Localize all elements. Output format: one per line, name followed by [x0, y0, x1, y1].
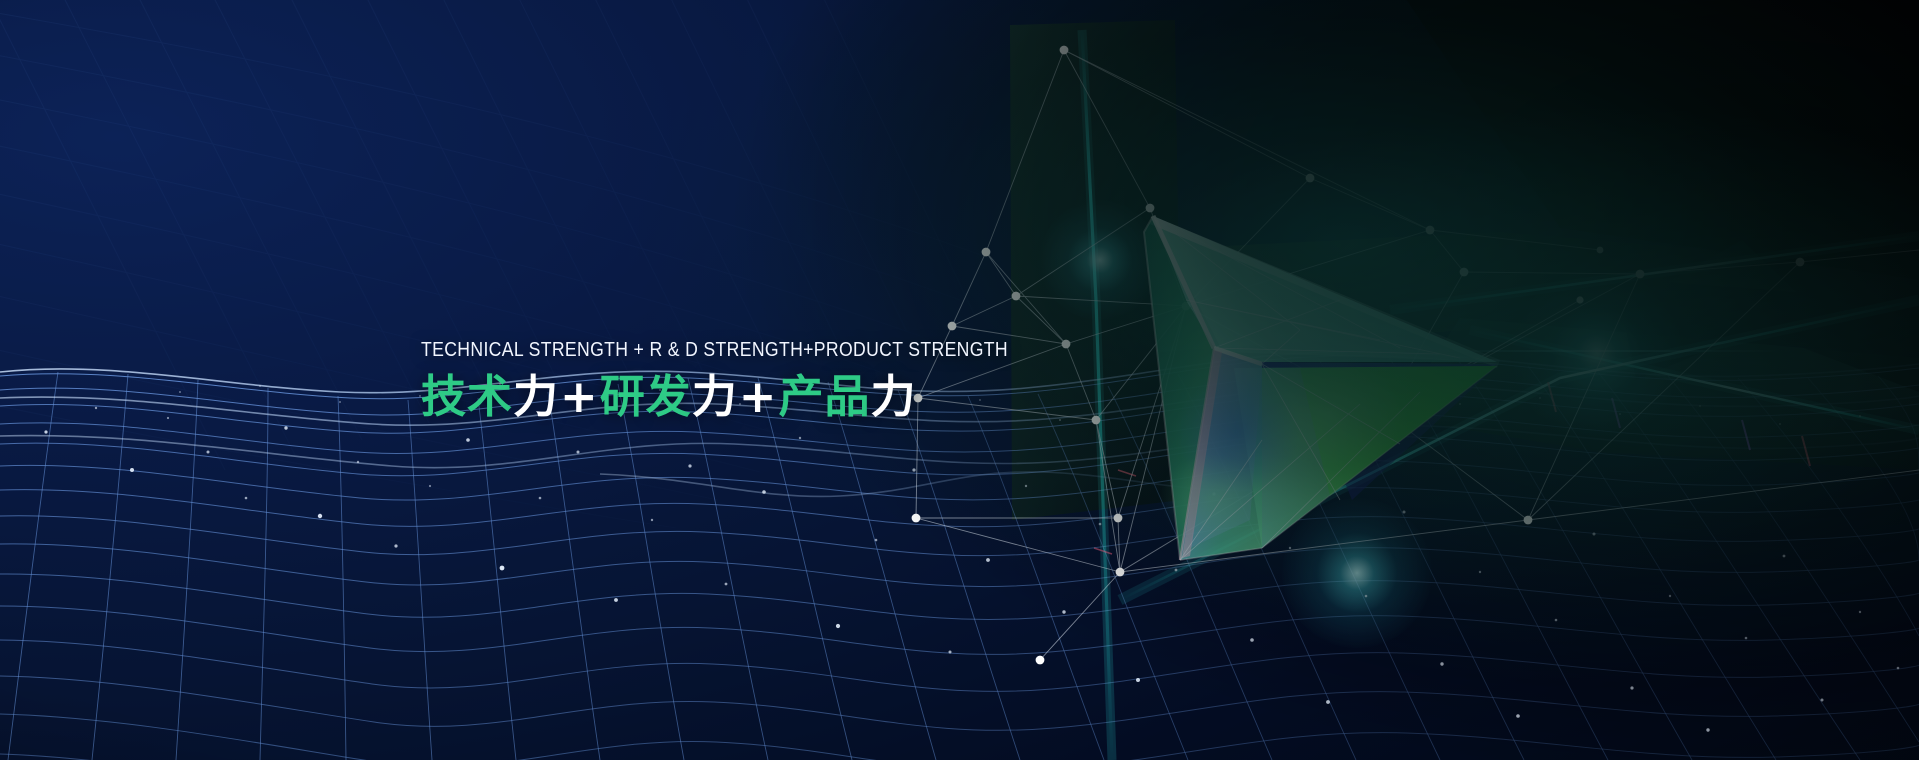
headline-text: 技术力+研发力+产品力 [421, 370, 1104, 424]
hero-banner: TECHNICAL STRENGTH + R & D STRENGTH+PROD… [0, 0, 1919, 760]
headline-segment-3: 研发 [600, 370, 692, 424]
lens-flare-bottom [1282, 498, 1432, 648]
flare-streak-right [1420, 350, 1780, 352]
headline-segment-7: 力 [871, 370, 917, 424]
eyebrow-text: TECHNICAL STRENGTH + R & D STRENGTH+PROD… [421, 337, 1008, 363]
lens-flare-right [1512, 268, 1682, 438]
headline-segment-5: + [738, 370, 779, 424]
lens-flare-top-left [1040, 200, 1160, 320]
headline-segment-0: 技术 [421, 370, 513, 424]
hero-copy: TECHNICAL STRENGTH + R & D STRENGTH+PROD… [421, 337, 1104, 424]
headline-segment-4: 力 [692, 370, 738, 424]
headline-segment-2: + [559, 370, 600, 424]
headline-segment-1: 力 [513, 370, 559, 424]
headline-segment-6: 产品 [779, 370, 871, 424]
